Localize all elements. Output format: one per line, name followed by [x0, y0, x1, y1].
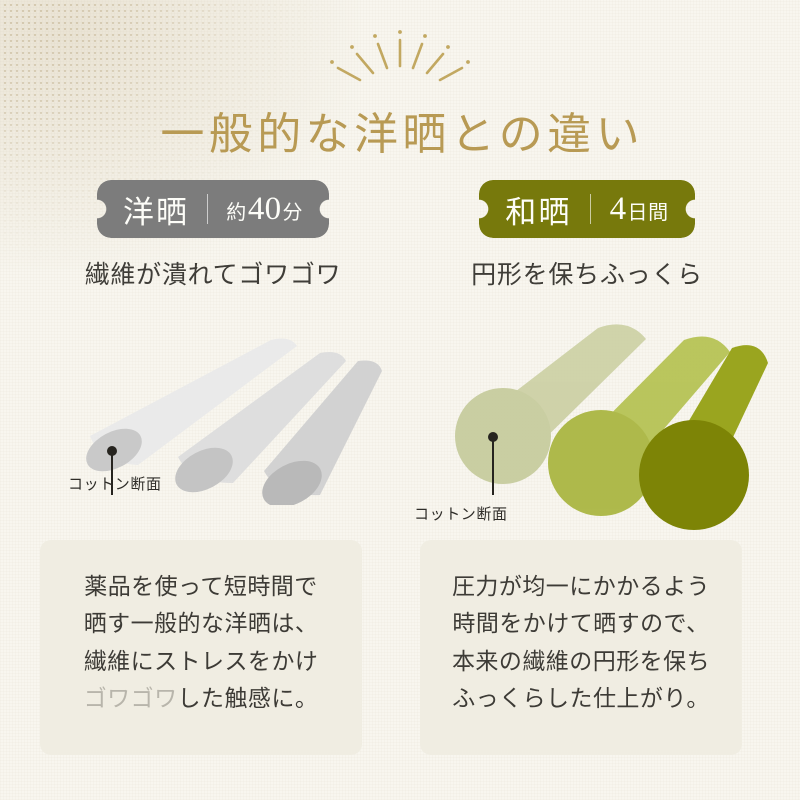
note-line-emphasis: ゴワゴワした触感に。 — [40, 680, 362, 717]
duration-suffix: 分 — [283, 196, 304, 225]
subtitle-yozarashi: 繊維が潰れてゴワゴワ — [28, 255, 398, 291]
note-line: 繊維にストレスをかけ — [40, 643, 362, 680]
comparison-column-wazarashi: 和晒 4 日間 円形を保ちふっくら — [402, 180, 772, 505]
badge-duration-yozarashi: 約 40 分 — [208, 191, 303, 228]
note-line: 晒す一般的な洋晒は、 — [40, 605, 362, 642]
note-line-emphasis: ふっくらした仕上がり。 — [420, 680, 742, 717]
badge-name-yozarashi: 洋晒 — [123, 187, 207, 232]
annotation-label-yozarashi: コットン断面 — [68, 473, 162, 494]
badge-row-wazarashi: 和晒 4 日間 — [402, 180, 772, 238]
badge-name-wazarashi: 和晒 — [505, 187, 589, 232]
note-line: 本来の繊維の円形を保ち — [420, 643, 742, 680]
duration-prefix: 約 — [226, 196, 247, 225]
badge-row-yozarashi: 洋晒 約 40 分 — [28, 180, 398, 238]
comparison-column-yozarashi: 洋晒 約 40 分 繊維が潰れてゴワゴワ — [28, 180, 398, 505]
note-line: 圧力が均一にかかるよう — [420, 568, 742, 605]
badge-yozarashi: 洋晒 約 40 分 — [97, 180, 329, 238]
duration-suffix: 日間 — [627, 196, 668, 225]
sunburst-ornament — [305, 22, 495, 84]
infographic-page: 一般的な洋晒との違い 洋晒 約 40 分 繊維が潰れてゴワゴワ — [0, 0, 800, 800]
round-fiber-diagram — [402, 305, 772, 535]
badge-duration-wazarashi: 4 日間 — [591, 191, 669, 228]
duration-number: 4 — [609, 191, 628, 228]
emphasis-text: ゴワゴワ — [84, 686, 178, 711]
note-line: 薬品を使って短時間で — [40, 568, 362, 605]
note-card-yozarashi: 薬品を使って短時間で 晒す一般的な洋晒は、 繊維にストレスをかけ ゴワゴワした触… — [40, 540, 362, 755]
illustration-wazarashi: コットン断面 — [402, 305, 772, 505]
note-card-wazarashi: 圧力が均一にかかるよう 時間をかけて晒すので、 本来の繊維の円形を保ち ふっくら… — [420, 540, 742, 755]
duration-number: 40 — [247, 191, 283, 228]
emphasis-tail: した触感に。 — [178, 686, 319, 711]
badge-wazarashi: 和晒 4 日間 — [479, 180, 694, 238]
annotation-label-wazarashi: コットン断面 — [414, 503, 508, 524]
note-line: 時間をかけて晒すので、 — [420, 605, 742, 642]
subtitle-wazarashi: 円形を保ちふっくら — [402, 255, 772, 291]
page-title: 一般的な洋晒との違い — [0, 113, 800, 157]
illustration-yozarashi: コットン断面 — [28, 305, 398, 505]
